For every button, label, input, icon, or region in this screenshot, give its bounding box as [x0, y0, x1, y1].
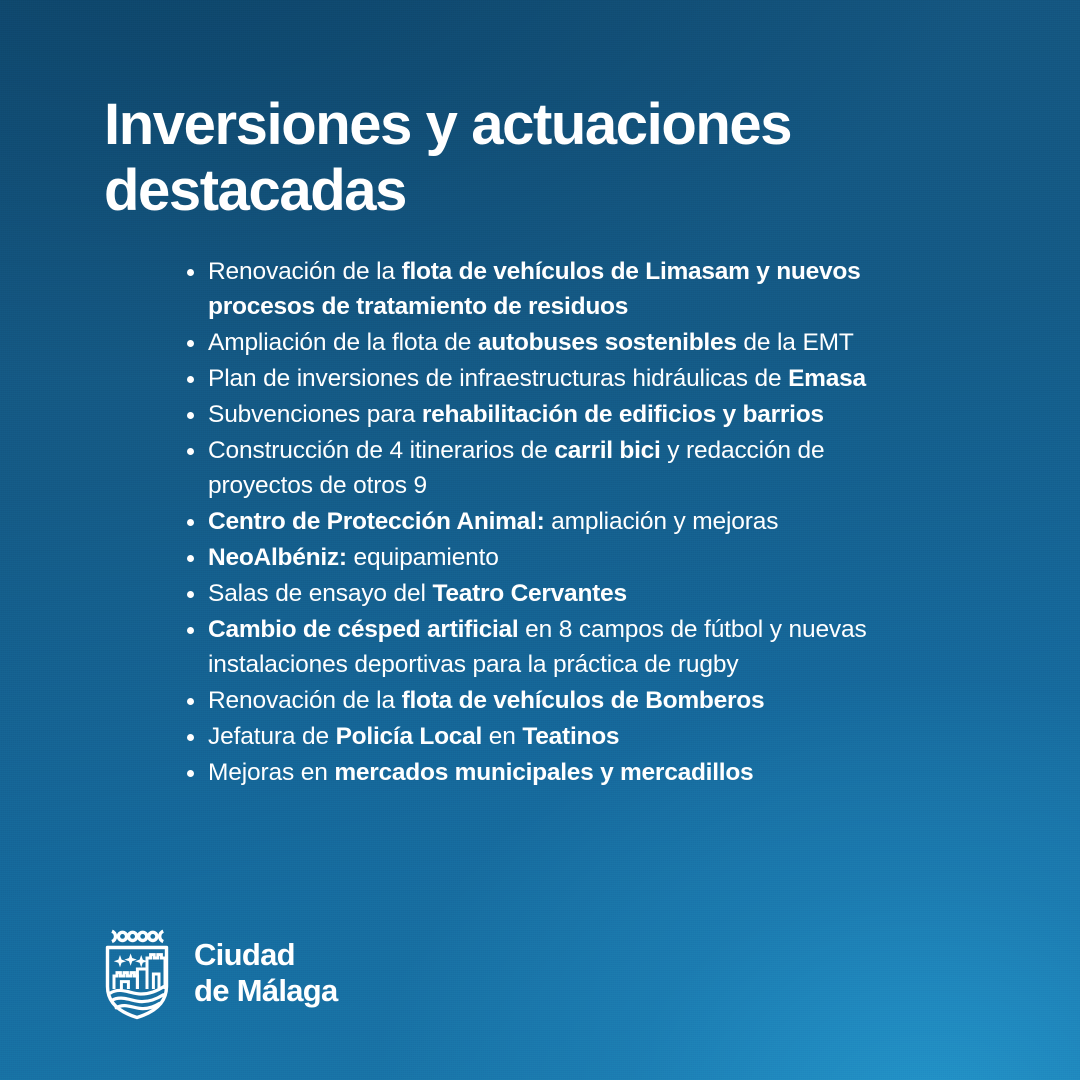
list-item-plain: de la EMT — [737, 329, 854, 356]
list-item-plain: Subvenciones para — [208, 401, 422, 428]
bullet-dot-icon — [187, 698, 194, 705]
bullet-dot-icon — [187, 340, 194, 347]
list-item: Renovación de la flota de vehículos de B… — [186, 683, 916, 718]
list-item-text: Salas de ensayo del Teatro Cervantes — [208, 580, 627, 607]
list-item-emphasis: carril bici — [554, 437, 660, 464]
bullet-dot-icon — [187, 269, 194, 276]
list-item-text: Cambio de césped artificial en 8 campos … — [208, 616, 867, 678]
highlights-list: Renovación de la flota de vehículos de L… — [186, 254, 916, 791]
list-item-emphasis: Centro de Protección Animal: — [208, 508, 545, 535]
list-item: Salas de ensayo del Teatro Cervantes — [186, 576, 916, 611]
list-item: Cambio de césped artificial en 8 campos … — [186, 612, 916, 682]
list-item-emphasis: rehabilitación de edificios y barrios — [422, 401, 824, 428]
list-item-text: Ampliación de la flota de autobuses sost… — [208, 329, 854, 356]
list-item: Jefatura de Policía Local en Teatinos — [186, 719, 916, 754]
list-item-plain: Renovación de la — [208, 687, 402, 714]
list-item: Ampliación de la flota de autobuses sost… — [186, 325, 916, 360]
logo-wordmark: Ciudad de Málaga — [194, 937, 338, 1011]
list-item-emphasis: Cambio de césped artificial — [208, 616, 519, 643]
list-item-plain: en — [482, 723, 522, 750]
list-item-text: NeoAlbéniz: equipamiento — [208, 544, 499, 571]
list-item-plain: Jefatura de — [208, 723, 336, 750]
list-item-emphasis: Policía Local — [336, 723, 483, 750]
list-item-text: Renovación de la flota de vehículos de L… — [208, 258, 860, 320]
list-item-plain: Mejoras en — [208, 759, 334, 786]
list-item-text: Jefatura de Policía Local en Teatinos — [208, 723, 619, 750]
list-item-text: Centro de Protección Animal: ampliación … — [208, 508, 778, 535]
list-item-plain: ampliación y mejoras — [545, 508, 779, 535]
list-item-plain: Ampliación de la flota de — [208, 329, 478, 356]
list-item-emphasis: Emasa — [788, 365, 866, 392]
list-item: Plan de inversiones de infraestructuras … — [186, 361, 916, 396]
list-item-emphasis: autobuses sostenibles — [478, 329, 737, 356]
list-item: Subvenciones para rehabilitación de edif… — [186, 397, 916, 432]
poster-content: Inversiones y actuaciones destacadas Ren… — [0, 0, 1080, 1080]
page-title: Inversiones y actuaciones destacadas — [104, 92, 944, 223]
list-item: NeoAlbéniz: equipamiento — [186, 540, 916, 575]
bullet-dot-icon — [187, 376, 194, 383]
bullet-dot-icon — [187, 519, 194, 526]
list-item-text: Mejoras en mercados municipales y mercad… — [208, 759, 753, 786]
list-item-text: Renovación de la flota de vehículos de B… — [208, 687, 764, 714]
list-item: Mejoras en mercados municipales y mercad… — [186, 755, 916, 790]
bullet-dot-icon — [187, 627, 194, 634]
list-item-emphasis: Teatinos — [522, 723, 619, 750]
bullet-dot-icon — [187, 591, 194, 598]
malaga-coat-of-arms-shield-icon — [100, 928, 174, 1020]
list-item-plain: Renovación de la — [208, 258, 402, 285]
bullet-dot-icon — [187, 555, 194, 562]
list-item: Centro de Protección Animal: ampliación … — [186, 504, 916, 539]
brand-logo: Ciudad de Málaga — [100, 928, 338, 1020]
bullet-dot-icon — [187, 448, 194, 455]
poster: Inversiones y actuaciones destacadas Ren… — [0, 0, 1080, 1080]
list-item-text: Subvenciones para rehabilitación de edif… — [208, 401, 824, 428]
list-item-plain: Plan de inversiones de infraestructuras … — [208, 365, 788, 392]
list-item-emphasis: flota de vehículos de Bomberos — [402, 687, 765, 714]
list-item-text: Construcción de 4 itinerarios de carril … — [208, 437, 825, 499]
list-item-plain: Salas de ensayo del — [208, 580, 432, 607]
list-item-text: Plan de inversiones de infraestructuras … — [208, 365, 866, 392]
list-item-plain: equipamiento — [347, 544, 499, 571]
list-item-emphasis: NeoAlbéniz: — [208, 544, 347, 571]
bullet-dot-icon — [187, 412, 194, 419]
list-item-emphasis: mercados municipales y mercadillos — [334, 759, 753, 786]
bullet-dot-icon — [187, 770, 194, 777]
list-item: Construcción de 4 itinerarios de carril … — [186, 433, 916, 503]
list-item-emphasis: Teatro Cervantes — [432, 580, 626, 607]
list-item-plain: Construcción de 4 itinerarios de — [208, 437, 554, 464]
list-item: Renovación de la flota de vehículos de L… — [186, 254, 916, 324]
bullet-dot-icon — [187, 734, 194, 741]
